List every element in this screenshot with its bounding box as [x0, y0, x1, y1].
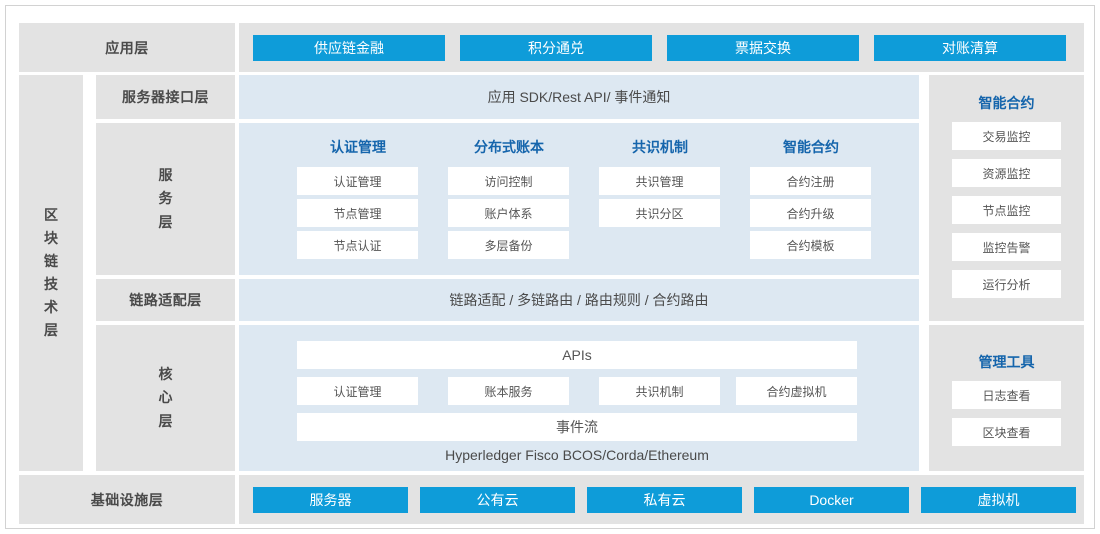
- service-cell-label: 合约升级: [786, 205, 834, 222]
- service-column-head-auth: 认证管理: [282, 137, 434, 157]
- infra-item-label: 私有云: [644, 490, 686, 510]
- core-module-label: 认证管理: [333, 383, 381, 400]
- label-char: 服: [159, 164, 173, 187]
- infra-item-server[interactable]: 服务器: [253, 487, 408, 513]
- side-panel-management-tools: 管理工具 日志查看 区块查看: [929, 325, 1084, 471]
- service-layer-label-box: 服 务 层: [96, 123, 235, 275]
- column-head-label: 共识机制: [632, 139, 688, 155]
- link-adapter-layer-label: 链路适配层: [129, 290, 202, 310]
- column-head-label: 智能合约: [783, 139, 839, 155]
- service-cell-label: 节点管理: [333, 205, 381, 222]
- label-char: 层: [159, 211, 173, 234]
- app-item-reconciliation-settlement[interactable]: 对账清算: [874, 35, 1066, 61]
- service-cell[interactable]: 认证管理: [297, 167, 418, 195]
- side-panel-cell[interactable]: 区块查看: [952, 418, 1061, 446]
- architecture-diagram-frame: 应用层 供应链金融 积分通兑 票据交换 对账清算 区 块 链 技 术 层 服务器…: [5, 5, 1095, 529]
- service-cell[interactable]: 多层备份: [448, 231, 569, 259]
- service-cell-label: 共识管理: [635, 173, 683, 190]
- side-panel-cell-label: 交易监控: [982, 128, 1030, 145]
- label-char: 技: [44, 273, 58, 296]
- application-layer-items-box: 供应链金融 积分通兑 票据交换 对账清算: [239, 23, 1084, 72]
- core-layer-panel: APIs 认证管理 账本服务 共识机制 合约虚拟机 事件流 Hyperledge…: [239, 325, 919, 471]
- label-char: 务: [159, 187, 173, 210]
- side-panel-smart-contract: 智能合约 交易监控 资源监控 节点监控 监控告警 运行分析: [929, 75, 1084, 321]
- server-interface-layer-label-box: 服务器接口层: [96, 75, 235, 119]
- core-module-cell[interactable]: 账本服务: [448, 377, 569, 405]
- infrastructure-layer-label: 基础设施层: [91, 490, 164, 510]
- side-panel-head-label: 管理工具: [979, 354, 1035, 370]
- service-cell[interactable]: 节点管理: [297, 199, 418, 227]
- service-cell[interactable]: 访问控制: [448, 167, 569, 195]
- core-module-label: 共识机制: [635, 383, 683, 400]
- column-head-label: 认证管理: [330, 139, 386, 155]
- side-panel-cell[interactable]: 监控告警: [952, 233, 1061, 261]
- service-layer-label: 服 务 层: [159, 164, 173, 233]
- blockchain-tech-layer-label-box: 区 块 链 技 术 层: [19, 75, 83, 471]
- infra-item-label: 公有云: [477, 490, 519, 510]
- side-panel-cell-label: 监控告警: [982, 239, 1030, 256]
- infra-item-docker[interactable]: Docker: [754, 487, 909, 513]
- service-cell-label: 共识分区: [635, 205, 683, 222]
- service-cell-label: 账户体系: [484, 205, 532, 222]
- label-char: 块: [44, 227, 58, 250]
- app-item-bill-exchange[interactable]: 票据交换: [667, 35, 859, 61]
- service-cell[interactable]: 节点认证: [297, 231, 418, 259]
- link-adapter-layer-band: 链路适配 / 多链路由 / 路由规则 / 合约路由: [239, 279, 919, 321]
- server-interface-layer-label: 服务器接口层: [122, 87, 209, 107]
- link-adapter-band-text: 链路适配 / 多链路由 / 路由规则 / 合约路由: [449, 290, 708, 310]
- label-char: 层: [159, 410, 173, 433]
- service-cell-label: 认证管理: [333, 173, 381, 190]
- side-panel-head: 智能合约: [929, 93, 1084, 113]
- service-cell-label: 合约注册: [786, 173, 834, 190]
- infra-item-private-cloud[interactable]: 私有云: [587, 487, 742, 513]
- core-layer-label: 核 心 层: [159, 363, 173, 432]
- service-layer-panel: 认证管理 认证管理 节点管理 节点认证 分布式账本 访问控制 账户体系 多层备份…: [239, 123, 919, 275]
- core-event-stream-bar[interactable]: 事件流: [297, 413, 857, 441]
- server-interface-layer-band: 应用 SDK/Rest API/ 事件通知: [239, 75, 919, 119]
- service-column-head-consensus: 共识机制: [584, 137, 736, 157]
- infrastructure-layer-items-box: 服务器 公有云 私有云 Docker 虚拟机: [239, 475, 1084, 524]
- side-panel-cell-label: 节点监控: [982, 202, 1030, 219]
- side-panel-cell[interactable]: 运行分析: [952, 270, 1061, 298]
- service-cell[interactable]: 共识管理: [599, 167, 720, 195]
- service-cell[interactable]: 合约注册: [750, 167, 871, 195]
- blockchain-tech-layer-label: 区 块 链 技 术 层: [44, 204, 58, 343]
- side-panel-cell-label: 区块查看: [982, 424, 1030, 441]
- side-panel-cell[interactable]: 资源监控: [952, 159, 1061, 187]
- link-adapter-layer-label-box: 链路适配层: [96, 279, 235, 321]
- side-panel-cell-label: 资源监控: [982, 165, 1030, 182]
- service-column-head-smart-contract: 智能合约: [735, 137, 887, 157]
- service-cell-label: 合约模板: [786, 237, 834, 254]
- infra-item-public-cloud[interactable]: 公有云: [420, 487, 575, 513]
- app-item-label: 票据交换: [735, 38, 791, 58]
- label-char: 层: [44, 319, 58, 342]
- service-cell[interactable]: 合约升级: [750, 199, 871, 227]
- infrastructure-layer-label-box: 基础设施层: [19, 475, 235, 524]
- app-item-points-exchange[interactable]: 积分通兑: [460, 35, 652, 61]
- infra-item-label: 虚拟机: [978, 490, 1020, 510]
- side-panel-cell-label: 运行分析: [982, 276, 1030, 293]
- core-platform-footnote-label: Hyperledger Fisco BCOS/Corda/Ethereum: [445, 447, 709, 463]
- label-char: 术: [44, 296, 58, 319]
- service-cell-label: 节点认证: [333, 237, 381, 254]
- application-layer-label-box: 应用层: [19, 23, 235, 72]
- label-char: 心: [159, 386, 173, 409]
- core-module-cell[interactable]: 共识机制: [599, 377, 720, 405]
- side-panel-head: 管理工具: [929, 352, 1084, 372]
- server-interface-band-text: 应用 SDK/Rest API/ 事件通知: [488, 87, 671, 107]
- side-panel-cell[interactable]: 交易监控: [952, 122, 1061, 150]
- core-module-label: 账本服务: [484, 383, 532, 400]
- service-cell[interactable]: 共识分区: [599, 199, 720, 227]
- label-char: 区: [44, 204, 58, 227]
- service-cell-label: 访问控制: [484, 173, 532, 190]
- core-module-cell[interactable]: 认证管理: [297, 377, 418, 405]
- service-column-head-ledger: 分布式账本: [433, 137, 585, 157]
- core-module-cell[interactable]: 合约虚拟机: [736, 377, 857, 405]
- core-event-stream-label: 事件流: [556, 417, 598, 437]
- core-apis-label: APIs: [562, 347, 592, 363]
- core-apis-bar[interactable]: APIs: [297, 341, 857, 369]
- infra-item-virtual-machine[interactable]: 虚拟机: [921, 487, 1076, 513]
- app-item-label: 对账清算: [942, 38, 998, 58]
- side-panel-head-label: 智能合约: [979, 95, 1035, 111]
- core-layer-label-box: 核 心 层: [96, 325, 235, 471]
- column-head-label: 分布式账本: [474, 139, 544, 155]
- label-char: 核: [159, 363, 173, 386]
- infra-item-label: 服务器: [310, 490, 352, 510]
- app-item-label: 供应链金融: [314, 38, 384, 58]
- side-panel-cell-label: 日志查看: [982, 387, 1030, 404]
- service-cell[interactable]: 合约模板: [750, 231, 871, 259]
- label-char: 链: [44, 250, 58, 273]
- core-module-label: 合约虚拟机: [766, 383, 826, 400]
- infra-item-label: Docker: [809, 492, 853, 508]
- app-item-supply-chain-finance[interactable]: 供应链金融: [253, 35, 445, 61]
- core-platform-footnote: Hyperledger Fisco BCOS/Corda/Ethereum: [297, 443, 857, 467]
- side-panel-cell[interactable]: 节点监控: [952, 196, 1061, 224]
- service-cell-label: 多层备份: [484, 237, 532, 254]
- side-panel-cell[interactable]: 日志查看: [952, 381, 1061, 409]
- app-item-label: 积分通兑: [528, 38, 584, 58]
- application-layer-label: 应用层: [105, 38, 149, 58]
- service-cell[interactable]: 账户体系: [448, 199, 569, 227]
